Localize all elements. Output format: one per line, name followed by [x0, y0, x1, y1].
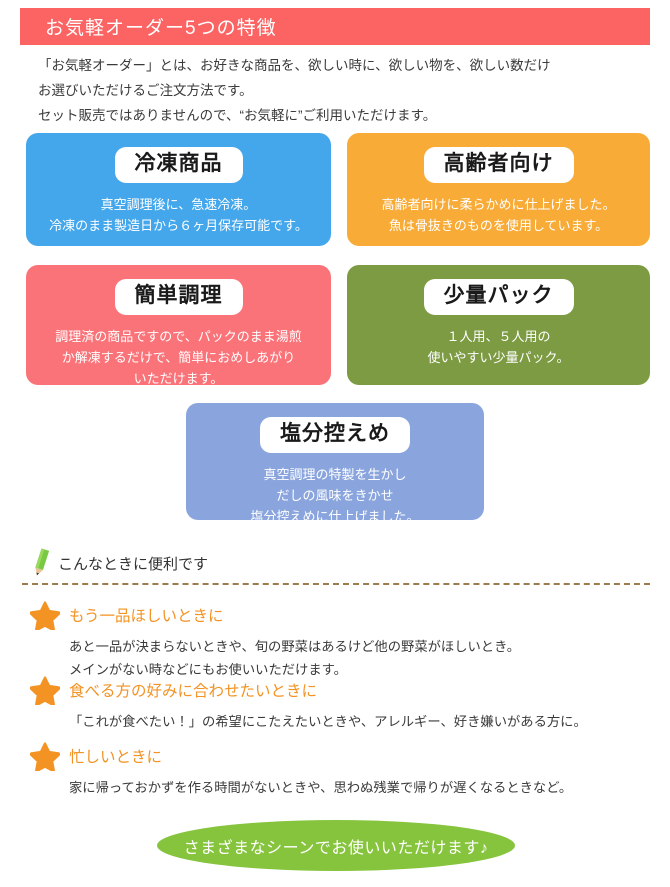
usecase-title: 食べる方の好みに合わせたいときに — [69, 679, 317, 701]
intro-line-3: セット販売ではありませんので、“お気軽に”ご利用いただけます。 — [38, 104, 638, 129]
footer-callout-text: さまざまなシーンでお使いいただけます♪ — [184, 834, 489, 858]
usecase-body-line: 家に帰っておかずを作る時間がないときや、思わぬ残業で帰りが遅くなるときなど。 — [69, 777, 650, 800]
usecase-head: 食べる方の好みに合わせたいときに — [30, 676, 650, 704]
feature-card-small-pack: 少量パック １人用、５人用の 使いやすい少量パック。 — [347, 265, 650, 385]
intro-line-1: 「お気軽オーダー」とは、お好きな商品を、欲しい時に、欲しい物を、欲しい数だけ — [38, 54, 638, 79]
usecases-heading-text: こんなときに便利です — [58, 553, 208, 574]
feature-desc-line: 高齢者向けに柔らかめに仕上げました。 — [381, 194, 615, 215]
feature-desc-line: か解凍するだけで、簡単におめしあがり — [55, 347, 301, 368]
star-icon — [30, 601, 60, 630]
feature-desc-line: 真空調理の特製を生かし — [250, 464, 419, 485]
feature-desc-frozen: 真空調理後に、急速冷凍。 冷凍のまま製造日から６ヶ月保存可能です。 — [49, 194, 308, 236]
feature-desc-line: 調理済の商品ですので、パックのまま湯煎 — [55, 326, 301, 347]
usecase-body: 「これが食べたい！」の希望にこたえたいときや、アレルギー、好き嫌いがある方に。 — [69, 711, 650, 734]
intro-paragraph: 「お気軽オーダー」とは、お好きな商品を、欲しい時に、欲しい物を、欲しい数だけ お… — [38, 54, 638, 129]
feature-desc-low-salt: 真空調理の特製を生かし だしの風味をきかせ 塩分控えめに仕上げました。 — [250, 464, 419, 527]
feature-desc-line: いただけます。 — [55, 368, 301, 389]
feature-pill-elderly: 高齢者向け — [424, 147, 574, 183]
section-divider — [22, 583, 650, 585]
feature-desc-small-pack: １人用、５人用の 使いやすい少量パック。 — [428, 326, 570, 368]
usecase-item-match-preference: 食べる方の好みに合わせたいときに 「これが食べたい！」の希望にこたえたいときや、… — [30, 676, 650, 734]
feature-card-low-salt: 塩分控えめ 真空調理の特製を生かし だしの風味をきかせ 塩分控えめに仕上げました… — [186, 403, 484, 520]
feature-card-easy-cooking: 簡単調理 調理済の商品ですので、パックのまま湯煎 か解凍するだけで、簡単におめし… — [26, 265, 331, 385]
usecase-body-line: あと一品が決まらないときや、旬の野菜はあるけど他の野菜がほしいとき。 — [69, 636, 650, 659]
usecase-head: 忙しいときに — [30, 742, 650, 770]
usecase-title: もう一品ほしいときに — [69, 604, 224, 626]
feature-card-frozen: 冷凍商品 真空調理後に、急速冷凍。 冷凍のまま製造日から６ヶ月保存可能です。 — [26, 133, 331, 246]
feature-desc-line: 冷凍のまま製造日から６ヶ月保存可能です。 — [49, 215, 308, 236]
footer-callout-ellipse: さまざまなシーンでお使いいただけます♪ — [157, 820, 515, 871]
usecase-body-line: 「これが食べたい！」の希望にこたえたいときや、アレルギー、好き嫌いがある方に。 — [69, 711, 650, 734]
feature-pill-frozen: 冷凍商品 — [115, 147, 243, 183]
feature-card-elderly: 高齢者向け 高齢者向けに柔らかめに仕上げました。 魚は骨抜きのものを使用していま… — [347, 133, 650, 246]
feature-pill-small-pack: 少量パック — [424, 279, 574, 315]
usecase-item-one-more-dish: もう一品ほしいときに あと一品が決まらないときや、旬の野菜はあるけど他の野菜がほ… — [30, 601, 650, 682]
feature-desc-line: 使いやすい少量パック。 — [428, 347, 570, 368]
feature-pill-low-salt: 塩分控えめ — [260, 417, 410, 453]
feature-desc-line: 塩分控えめに仕上げました。 — [250, 506, 419, 527]
feature-desc-line: １人用、５人用の — [428, 326, 570, 347]
usecase-item-busy-times: 忙しいときに 家に帰っておかずを作る時間がないときや、思わぬ残業で帰りが遅くなる… — [30, 742, 650, 800]
usecase-body: あと一品が決まらないときや、旬の野菜はあるけど他の野菜がほしいとき。 メインがな… — [69, 636, 650, 682]
usecase-head: もう一品ほしいときに — [30, 601, 650, 629]
feature-pill-easy-cooking: 簡単調理 — [115, 279, 243, 315]
usecases-heading: こんなときに便利です — [30, 548, 208, 578]
feature-desc-line: 魚は骨抜きのものを使用しています。 — [381, 215, 615, 236]
feature-desc-line: だしの風味をきかせ — [250, 485, 419, 506]
pencil-icon — [30, 548, 52, 578]
star-icon — [30, 676, 60, 705]
page-header-bar: お気軽オーダー5つの特徴 — [20, 8, 650, 45]
feature-desc-easy-cooking: 調理済の商品ですので、パックのまま湯煎 か解凍するだけで、簡単におめしあがり い… — [55, 326, 301, 389]
usecase-title: 忙しいときに — [69, 745, 162, 767]
star-icon — [30, 742, 60, 771]
feature-desc-elderly: 高齢者向けに柔らかめに仕上げました。 魚は骨抜きのものを使用しています。 — [381, 194, 615, 236]
page-title: お気軽オーダー5つの特徴 — [20, 13, 277, 40]
feature-desc-line: 真空調理後に、急速冷凍。 — [49, 194, 308, 215]
intro-line-2: お選びいただけるご注文方法です。 — [38, 79, 638, 104]
usecase-body: 家に帰っておかずを作る時間がないときや、思わぬ残業で帰りが遅くなるときなど。 — [69, 777, 650, 800]
